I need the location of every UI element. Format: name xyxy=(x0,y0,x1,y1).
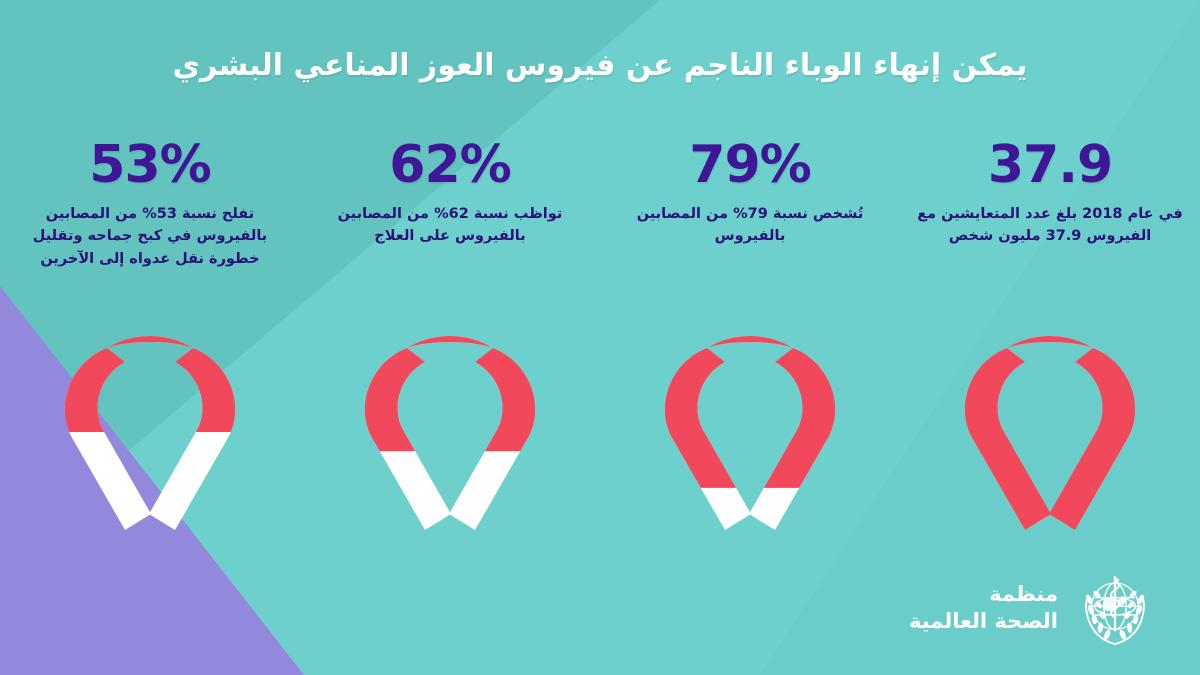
infographic-poster: يمكن إنهاء الوباء الناجم عن فيروس العوز … xyxy=(0,0,1200,675)
stat-caption-79: تُشخص نسبة 79% من المصابين بالفيروس xyxy=(614,203,886,248)
ribbon-53-percent xyxy=(55,318,245,533)
ribbon-cell-62 xyxy=(300,318,600,533)
stat-number-53: 53% xyxy=(14,138,286,193)
who-emblem-icon xyxy=(1072,565,1158,651)
stat-card-62: 62% تواظب نسبة 62% من المصابين بالفيروس … xyxy=(300,138,600,270)
ribbon-cell-79 xyxy=(600,318,900,533)
ribbon-full xyxy=(955,318,1145,533)
who-logo: منظمة الصحة العالمية xyxy=(909,565,1158,651)
stat-caption-53: تفلح نسبة 53% من المصابين بالفيروس في كب… xyxy=(14,203,286,270)
stat-card-79: 79% تُشخص نسبة 79% من المصابين بالفيروس xyxy=(600,138,900,270)
stat-number-62: 62% xyxy=(314,138,586,193)
stat-number-379: 37.9 xyxy=(914,138,1186,193)
stat-card-379: 37.9 في عام 2018 بلغ عدد المتعايشين مع ا… xyxy=(900,138,1200,270)
who-organization-name: منظمة الصحة العالمية xyxy=(909,581,1058,635)
ribbons-row xyxy=(0,318,1200,533)
stat-number-79: 79% xyxy=(614,138,886,193)
stats-row: 53% تفلح نسبة 53% من المصابين بالفيروس ف… xyxy=(0,138,1200,270)
ribbon-cell-53 xyxy=(0,318,300,533)
stat-card-53: 53% تفلح نسبة 53% من المصابين بالفيروس ف… xyxy=(0,138,300,270)
page-title: يمكن إنهاء الوباء الناجم عن فيروس العوز … xyxy=(0,46,1200,86)
stat-caption-62: تواظب نسبة 62% من المصابين بالفيروس على … xyxy=(314,203,586,248)
ribbon-79-percent xyxy=(655,318,845,533)
ribbon-62-percent xyxy=(355,318,545,533)
ribbon-cell-379 xyxy=(900,318,1200,533)
stat-caption-379: في عام 2018 بلغ عدد المتعايشين مع الفيرو… xyxy=(914,203,1186,248)
